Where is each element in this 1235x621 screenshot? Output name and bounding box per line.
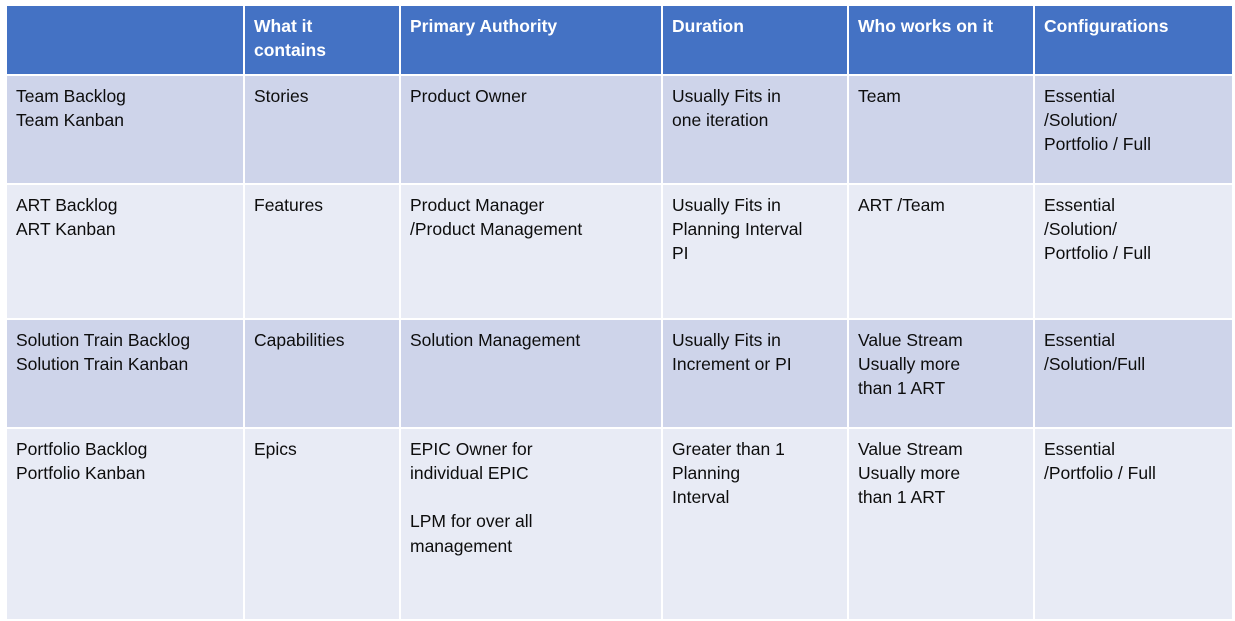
cell-configurations: Essential /Portfolio / Full — [1035, 429, 1232, 619]
column-header-who-works-on-it: Who works on it — [849, 6, 1033, 74]
column-header-duration: Duration — [663, 6, 847, 74]
cell-backlog: Team Backlog Team Kanban — [7, 76, 243, 183]
cell-who: Value Stream Usually more than 1 ART — [849, 429, 1033, 619]
cell-duration: Usually Fits in Planning Interval PI — [663, 185, 847, 318]
cell-who: Team — [849, 76, 1033, 183]
cell-configurations: Essential /Solution/ Portfolio / Full — [1035, 185, 1232, 318]
table-header-row: What it contains Primary Authority Durat… — [7, 6, 1232, 74]
cell-duration: Greater than 1 Planning Interval — [663, 429, 847, 619]
column-header-backlog — [7, 6, 243, 74]
cell-contains: Stories — [245, 76, 399, 183]
table-header: What it contains Primary Authority Durat… — [7, 6, 1232, 74]
cell-backlog: Portfolio Backlog Portfolio Kanban — [7, 429, 243, 619]
cell-backlog: Solution Train Backlog Solution Train Ka… — [7, 320, 243, 427]
cell-configurations: Essential /Solution/Full — [1035, 320, 1232, 427]
column-header-configurations: Configurations — [1035, 6, 1232, 74]
table-row: Solution Train Backlog Solution Train Ka… — [7, 320, 1232, 427]
cell-duration: Usually Fits in one iteration — [663, 76, 847, 183]
cell-who: Value Stream Usually more than 1 ART — [849, 320, 1033, 427]
cell-authority: EPIC Owner for individual EPIC LPM for o… — [401, 429, 661, 619]
cell-who: ART /Team — [849, 185, 1033, 318]
cell-duration: Usually Fits in Increment or PI — [663, 320, 847, 427]
table-row: ART Backlog ART Kanban Features Product … — [7, 185, 1232, 318]
cell-contains: Capabilities — [245, 320, 399, 427]
table-body: Team Backlog Team Kanban Stories Product… — [7, 76, 1232, 619]
cell-contains: Epics — [245, 429, 399, 619]
table-canvas: What it contains Primary Authority Durat… — [0, 0, 1235, 578]
table-row: Portfolio Backlog Portfolio Kanban Epics… — [7, 429, 1232, 619]
safe-backlog-comparison-table: What it contains Primary Authority Durat… — [5, 4, 1234, 621]
cell-authority: Product Manager /Product Management — [401, 185, 661, 318]
cell-authority: Product Owner — [401, 76, 661, 183]
cell-backlog: ART Backlog ART Kanban — [7, 185, 243, 318]
table-row: Team Backlog Team Kanban Stories Product… — [7, 76, 1232, 183]
column-header-primary-authority: Primary Authority — [401, 6, 661, 74]
column-header-what-it-contains: What it contains — [245, 6, 399, 74]
cell-configurations: Essential /Solution/ Portfolio / Full — [1035, 76, 1232, 183]
cell-authority: Solution Management — [401, 320, 661, 427]
cell-contains: Features — [245, 185, 399, 318]
